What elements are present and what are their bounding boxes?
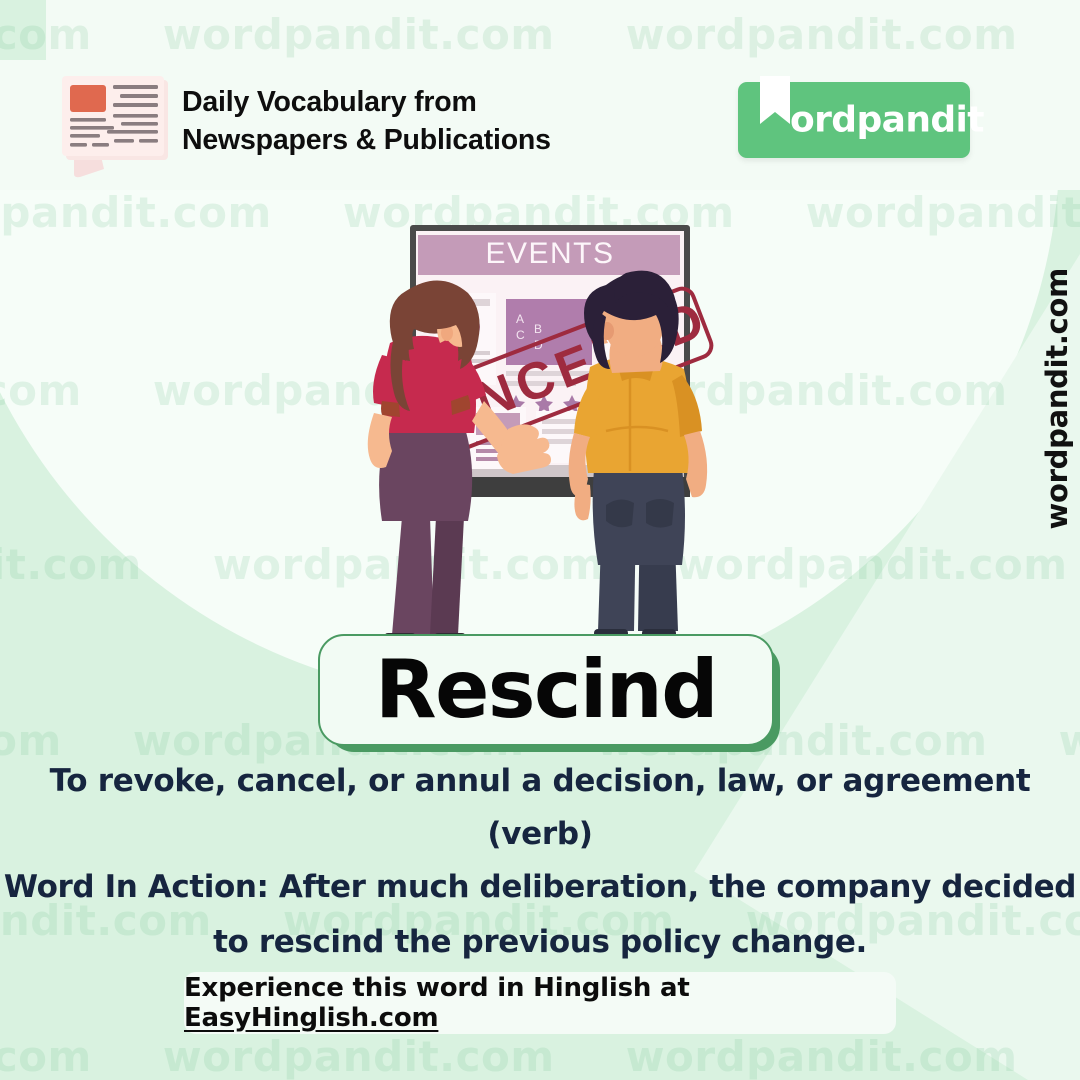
vocabulary-card-canvas: wordpandit.com wordpandit.com wordpandit… bbox=[0, 0, 1080, 1080]
definition-block: To revoke, cancel, or annul a decision, … bbox=[0, 755, 1080, 862]
watermark-text: wordpandit.com bbox=[626, 1032, 1018, 1080]
watermark-text: wordpandit.com bbox=[163, 1032, 555, 1080]
board-title: EVENTS bbox=[485, 237, 614, 270]
page-title: Daily Vocabulary from Newspapers & Publi… bbox=[182, 84, 602, 159]
page-title-line2: Newspapers & Publications bbox=[182, 124, 551, 156]
definition-meaning: To revoke, cancel, or annul a decision, … bbox=[50, 763, 1031, 799]
hinglish-cta-bar[interactable]: Experience this word in Hinglish at Easy… bbox=[184, 972, 896, 1034]
word-in-action-line2: to rescind the previous policy change. bbox=[0, 915, 1080, 970]
svg-text:C: C bbox=[516, 328, 525, 342]
cta-text: Experience this word in Hinglish at Easy… bbox=[184, 973, 896, 1033]
bookmark-w-icon bbox=[758, 76, 792, 138]
watermark-row: wordpandit.com wordpandit.com wordpandit… bbox=[0, 1032, 1080, 1080]
events-canceled-illustration: EVENTS A C B D bbox=[330, 215, 770, 660]
vertical-site-url: wordpandit.com bbox=[1040, 268, 1074, 529]
header: Daily Vocabulary from Newspapers & Publi… bbox=[0, 0, 1080, 190]
svg-text:A: A bbox=[516, 312, 524, 326]
word-card: Rescind bbox=[318, 634, 774, 746]
vocabulary-word: Rescind bbox=[375, 650, 717, 730]
svg-text:B: B bbox=[534, 322, 542, 336]
easyhinglish-link[interactable]: EasyHinglish.com bbox=[184, 1003, 438, 1033]
newspaper-icon bbox=[56, 68, 178, 180]
word-in-action-line1: Word In Action: After much deliberation,… bbox=[4, 869, 1076, 905]
part-of-speech: (verb) bbox=[0, 808, 1080, 861]
wordpandit-logo[interactable]: ordpandit bbox=[738, 82, 970, 158]
word-card-container: Rescind bbox=[318, 634, 770, 742]
word-in-action-block: Word In Action: After much deliberation,… bbox=[0, 860, 1080, 970]
logo-text: ordpandit bbox=[790, 100, 984, 141]
watermark-text: wordpandit.com bbox=[0, 1032, 92, 1080]
page-title-line1: Daily Vocabulary from bbox=[182, 86, 477, 118]
cta-prefix: Experience this word in Hinglish at bbox=[184, 973, 690, 1003]
